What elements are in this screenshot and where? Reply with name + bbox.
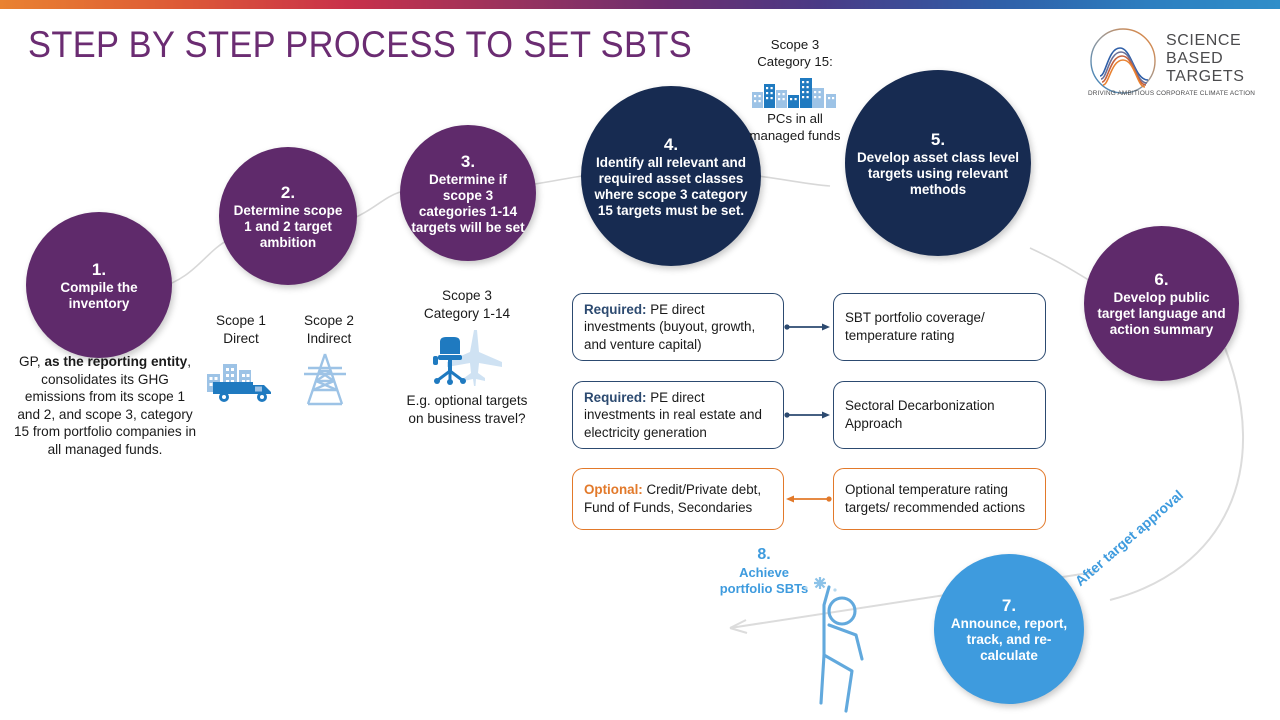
scope-1-caption: Scope 1 Direct (200, 312, 282, 347)
step-circle-2[interactable]: 2. Determine scope 1 and 2 target ambiti… (219, 147, 357, 285)
scope-3-cat-15-line-2: Category 15: (735, 53, 855, 70)
scope-3-cat-15-caption: Scope 3 Category 15: (735, 36, 855, 70)
step-3-text: Determine if scope 3 categories 1-14 tar… (409, 172, 527, 236)
method-row-1-left-prefix: Required: (584, 302, 647, 317)
method-row-2-left-prefix: Required: (584, 390, 647, 405)
method-row-1-arrow-right-icon (784, 317, 832, 337)
step-3-number: 3. (409, 151, 527, 172)
step-2-text: Determine scope 1 and 2 target ambition (228, 203, 348, 251)
method-row-1-left-box[interactable]: Required: PE direct investments (buyout,… (572, 293, 784, 361)
method-row-3-arrow-left-icon (784, 489, 832, 509)
step-circle-4[interactable]: 4. Identify all relevant and required as… (581, 86, 761, 266)
method-row-3-left-box[interactable]: Optional: Credit/Private debt, Fund of F… (572, 468, 784, 530)
scope-3-cat-1-14-line-1: Scope 3 (397, 287, 537, 305)
wire-6-7-curve (1110, 348, 1243, 600)
scope-3-cat-1-14-line-2: Category 1-14 (397, 305, 537, 323)
scope-2-line-2: Indirect (288, 330, 370, 348)
factory-and-truck-icon (205, 352, 281, 404)
method-row-2-arrow-right-icon (784, 405, 832, 425)
scope-3-cat-1-14-caption: Scope 3 Category 1-14 (397, 287, 537, 322)
step-7-text: Announce, report, track, and re-calculat… (943, 616, 1075, 664)
step-7-number: 7. (943, 595, 1075, 616)
step-8-number: 8. (716, 545, 812, 565)
method-row-3-right-text: Optional temperature rating targets/ rec… (845, 481, 1034, 516)
step-circle-7[interactable]: 7. Announce, report, track, and re-calcu… (934, 554, 1084, 704)
celebrating-person-icon (790, 563, 900, 718)
scope-3-cat-15-note: PCs in all managed funds (740, 110, 850, 144)
scope-3-cat-1-14-note: E.g. optional targets on business travel… (400, 392, 534, 427)
step-4-number: 4. (590, 134, 752, 155)
method-row-3-right-box[interactable]: Optional temperature rating targets/ rec… (833, 468, 1046, 530)
step-1-note: GP, as the reporting entity, consolidate… (12, 353, 198, 458)
wire-5-6 (1030, 248, 1092, 282)
step-6-text: Develop public target language and actio… (1093, 290, 1230, 338)
step-circle-5[interactable]: 5. Develop asset class level targets usi… (845, 70, 1031, 256)
cityscape-buildings-icon (752, 76, 838, 108)
electricity-pylon-icon (296, 350, 354, 406)
wire-3-4 (535, 176, 582, 184)
step-2-number: 2. (228, 182, 348, 203)
method-row-2-right-text: Sectoral Decarbonization Approach (845, 397, 1034, 432)
step-1-number: 1. (35, 259, 163, 280)
step-circle-1[interactable]: 1. Compile the inventory (26, 212, 172, 358)
method-row-2-left-box[interactable]: Required: PE direct investments in real … (572, 381, 784, 449)
step-1-text: Compile the inventory (35, 280, 163, 312)
step-5-text: Develop asset class level targets using … (854, 150, 1022, 198)
scope-1-line-1: Scope 1 (200, 312, 282, 330)
scope-2-caption: Scope 2 Indirect (288, 312, 370, 347)
method-row-3-left-prefix: Optional: (584, 482, 643, 497)
scope-2-line-1: Scope 2 (288, 312, 370, 330)
scope-1-line-2: Direct (200, 330, 282, 348)
method-row-1-right-text: SBT portfolio coverage/ temperature rati… (845, 309, 1034, 344)
step-1-note-bold: as the reporting entity (44, 354, 187, 369)
office-chair-and-airplane-icon (422, 328, 512, 390)
step-circle-6[interactable]: 6. Develop public target language and ac… (1084, 226, 1239, 381)
step-5-number: 5. (854, 129, 1022, 150)
step-6-number: 6. (1093, 269, 1230, 290)
method-row-2-right-box[interactable]: Sectoral Decarbonization Approach (833, 381, 1046, 449)
wire-4-5 (758, 176, 830, 186)
method-row-1-right-box[interactable]: SBT portfolio coverage/ temperature rati… (833, 293, 1046, 361)
step-4-text: Identify all relevant and required asset… (590, 155, 752, 219)
step-circle-3[interactable]: 3. Determine if scope 3 categories 1-14 … (400, 125, 536, 261)
scope-3-cat-15-line-1: Scope 3 (735, 36, 855, 53)
